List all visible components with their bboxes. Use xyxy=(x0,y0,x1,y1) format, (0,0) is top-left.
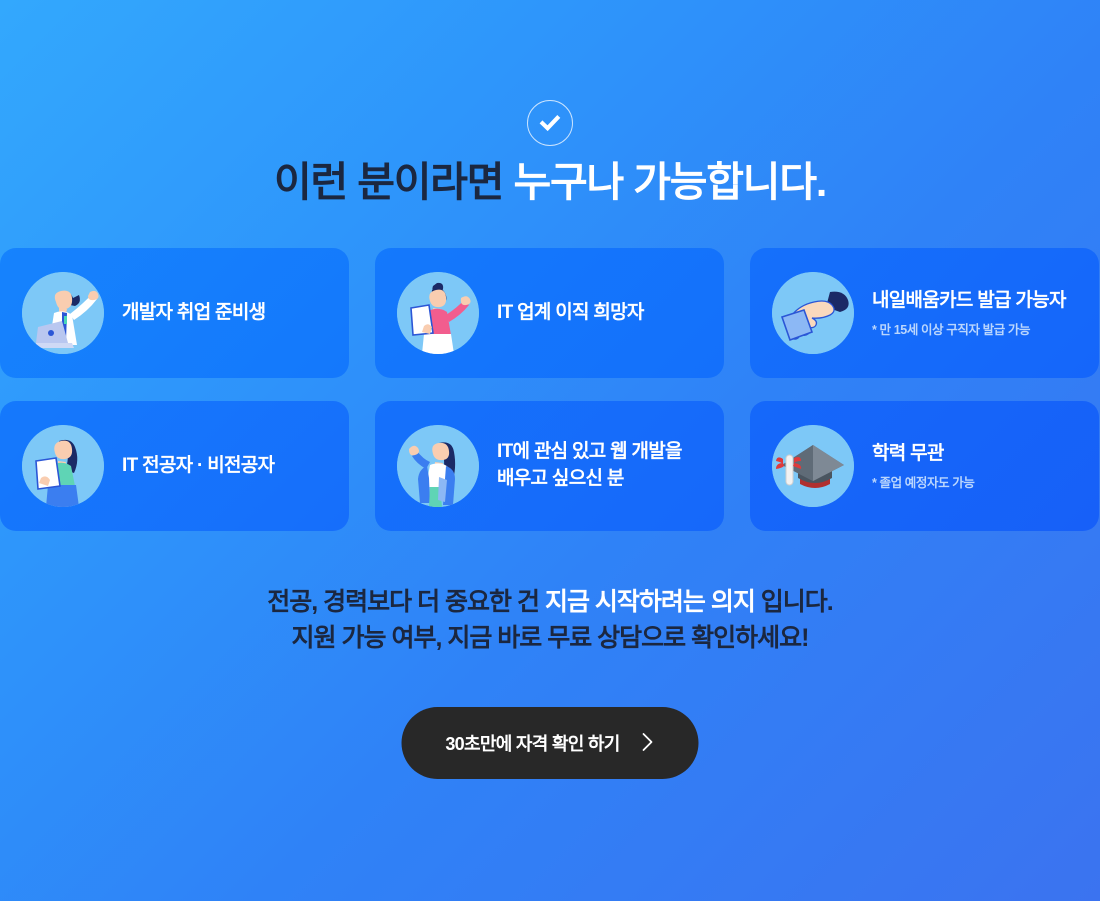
check-circle-icon xyxy=(527,100,573,146)
tagline-line-1: 전공, 경력보다 더 중요한 건 지금 시작하려는 의지 입니다. xyxy=(0,585,1100,621)
chevron-right-icon xyxy=(642,732,655,755)
eligibility-card-grid: 개발자 취업 준비생 xyxy=(0,248,1100,531)
headline-part-dark: 이런 분이라면 xyxy=(274,159,503,205)
card-subtitle: * 만 15세 이상 구직자 발급 가능 xyxy=(872,319,1066,338)
tagline-line1-dark-b: 입니다. xyxy=(755,588,833,616)
card-title: 학력 무관 xyxy=(872,441,974,468)
woman-with-clipboard-icon xyxy=(22,425,104,507)
developer-with-laptop-icon xyxy=(22,272,104,354)
check-eligibility-button[interactable]: 30초만에 자격 확인 하기 xyxy=(402,707,699,779)
card-text-block: IT에 관심 있고 웹 개발을 배우고 싶으신 분 xyxy=(497,439,682,493)
card-text-block: IT 전공자 · 비전공자 xyxy=(122,453,274,480)
eligibility-card-developer[interactable]: 개발자 취업 준비생 xyxy=(0,248,349,378)
card-text-block: 학력 무관 * 졸업 예정자도 가능 xyxy=(872,441,974,492)
eligibility-card-major[interactable]: IT 전공자 · 비전공자 xyxy=(0,401,349,531)
card-text-block: 내일배움카드 발급 가능자 * 만 15세 이상 구직자 발급 가능 xyxy=(872,288,1066,339)
tagline: 전공, 경력보다 더 중요한 건 지금 시작하려는 의지 입니다. 지원 가능 … xyxy=(0,585,1100,656)
card-title: 내일배움카드 발급 가능자 xyxy=(872,288,1066,315)
graduation-cap-icon xyxy=(772,425,854,507)
card-title: IT에 관심 있고 웹 개발을 배우고 싶으신 분 xyxy=(497,439,682,493)
card-title: IT 업계 이직 희망자 xyxy=(497,300,644,327)
headline-part-light: 누구나 가능합니다. xyxy=(513,159,826,205)
page-title: 이런 분이라면 누구나 가능합니다. xyxy=(0,158,1100,207)
tagline-line-2: 지원 가능 여부, 지금 바로 무료 상담으로 확인하세요! xyxy=(0,621,1100,657)
cta-label: 30초만에 자격 확인 하기 xyxy=(445,730,619,756)
card-text-block: IT 업계 이직 희망자 xyxy=(497,300,644,327)
hand-holding-card-icon xyxy=(772,272,854,354)
card-title: IT 전공자 · 비전공자 xyxy=(122,453,274,480)
woman-raising-hand-icon xyxy=(397,425,479,507)
woman-with-tablet-icon xyxy=(397,272,479,354)
eligibility-card-training-card[interactable]: 내일배움카드 발급 가능자 * 만 15세 이상 구직자 발급 가능 xyxy=(750,248,1099,378)
card-subtitle: * 졸업 예정자도 가능 xyxy=(872,472,974,491)
card-text-block: 개발자 취업 준비생 xyxy=(122,300,265,327)
eligibility-card-interest[interactable]: IT에 관심 있고 웹 개발을 배우고 싶으신 분 xyxy=(375,401,724,531)
eligibility-card-career-change[interactable]: IT 업계 이직 희망자 xyxy=(375,248,724,378)
eligibility-card-education[interactable]: 학력 무관 * 졸업 예정자도 가능 xyxy=(750,401,1099,531)
promo-landing-section: 이런 분이라면 누구나 가능합니다. xyxy=(0,0,1100,901)
tagline-line1-dark-a: 전공, 경력보다 더 중요한 건 xyxy=(267,588,545,616)
tagline-line1-light: 지금 시작하려는 의지 xyxy=(545,588,755,616)
card-title: 개발자 취업 준비생 xyxy=(122,300,265,327)
